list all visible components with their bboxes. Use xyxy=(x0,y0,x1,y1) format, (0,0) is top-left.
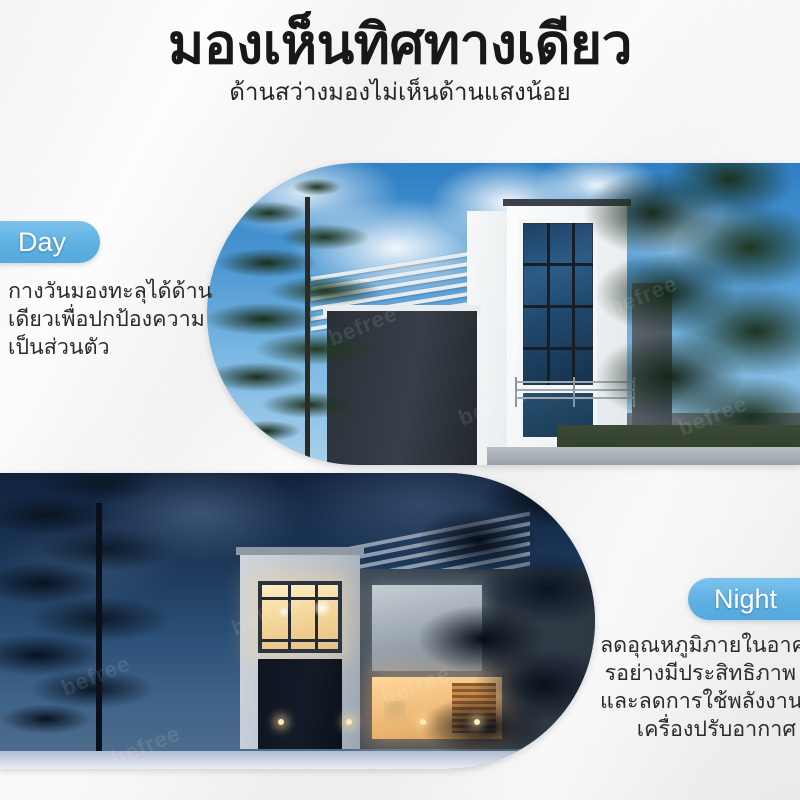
day-caption: กางวันมองทะลุได้ด้าน เดียวเพื่อปกป้องควา… xyxy=(8,278,204,362)
night-window-lit xyxy=(258,581,342,653)
night-step-lights xyxy=(250,719,490,729)
night-garage-door xyxy=(258,659,342,749)
promo-canvas: มองเห็นทิศทางเดียว ด้านสว่างมองไม่เห็นด้… xyxy=(0,0,800,800)
night-caption-line: รอย่างมีประสิทธิภาพ xyxy=(600,660,796,688)
night-caption-line: และลดการใช้พลังงานของ xyxy=(600,688,796,716)
lamp-icon xyxy=(280,605,288,619)
day-badge-label: Day xyxy=(18,227,66,258)
night-tree-left xyxy=(0,473,220,757)
night-parapet xyxy=(236,547,364,555)
day-tree-trunk xyxy=(305,197,310,465)
night-badge: Night xyxy=(688,578,800,620)
night-tree-right xyxy=(420,473,595,753)
day-caption-line: กางวันมองทะลุได้ด้าน xyxy=(8,278,204,306)
night-bottom-strip xyxy=(0,751,595,769)
day-scene-image: befree befree befree befree xyxy=(207,163,800,465)
night-caption: ลดอุณหภูมิภายในอาคา รอย่างมีประสิทธิภาพ … xyxy=(600,632,796,744)
day-tree-right xyxy=(580,163,800,465)
page-title: มองเห็นทิศทางเดียว xyxy=(0,16,800,73)
night-scene-image: befree befree befree befree xyxy=(0,473,595,769)
day-driveway xyxy=(487,447,800,465)
day-caption-line: เป็นส่วนตัว xyxy=(8,334,204,362)
day-badge: Day xyxy=(0,221,100,263)
day-caption-line: เดียวเพื่อปกป้องความ xyxy=(8,306,204,334)
night-entry-plant xyxy=(384,701,406,735)
night-badge-label: Night xyxy=(714,584,777,615)
chandelier-icon xyxy=(314,601,330,619)
night-caption-line: เครื่องปรับอากาศ xyxy=(600,716,796,744)
night-tree-trunk xyxy=(96,503,102,755)
title-block: มองเห็นทิศทางเดียว ด้านสว่างมองไม่เห็นด้… xyxy=(0,16,800,107)
page-subtitle: ด้านสว่างมองไม่เห็นด้านแสงน้อย xyxy=(0,79,800,107)
day-tree-left xyxy=(207,163,427,465)
night-caption-line: ลดอุณหภูมิภายในอาคา xyxy=(600,632,796,660)
